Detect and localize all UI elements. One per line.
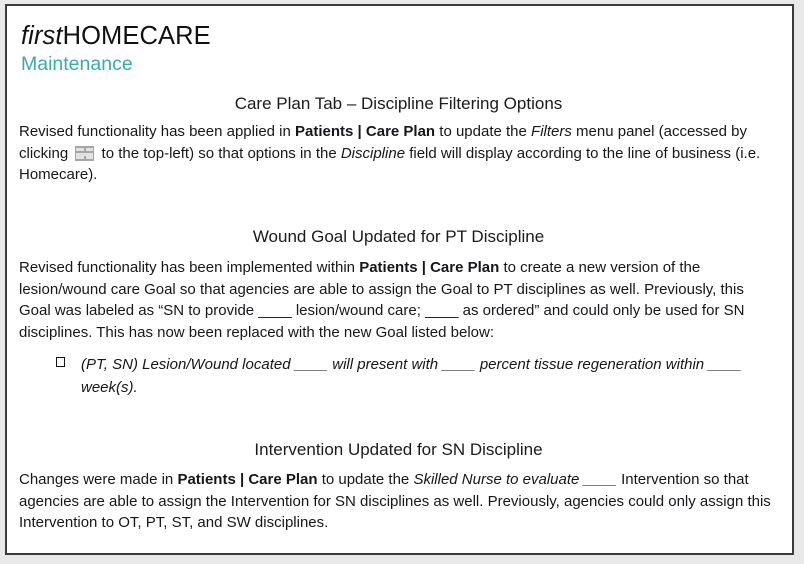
list-item: (PT, SN) Lesion/Wound located ____ will … xyxy=(19,354,778,398)
paragraph-text: Changes were made in xyxy=(19,471,177,488)
section-paragraph: Changes were made in Patients | Care Pla… xyxy=(19,469,778,534)
document-subtitle: Maintenance xyxy=(21,53,778,76)
paragraph-italic-discipline: Discipline xyxy=(341,145,405,162)
paragraph-bold-patients-care-plan: Patients | Care Plan xyxy=(295,123,435,140)
section-wound-goal: Wound Goal Updated for PT Discipline Rev… xyxy=(19,226,778,399)
paragraph-text: to the top-left) so that options in the xyxy=(97,145,340,162)
section-intervention: Intervention Updated for SN Discipline C… xyxy=(19,439,778,534)
brand-title-rest: HOMECARE xyxy=(63,22,211,50)
paragraph-text: to update the xyxy=(435,123,531,140)
paragraph-bold-patients-care-plan: Patients | Care Plan xyxy=(177,471,317,488)
list-item-text: (PT, SN) Lesion/Wound located ____ will … xyxy=(81,356,742,395)
section-heading: Intervention Updated for SN Discipline xyxy=(19,439,778,460)
section-care-plan-tab: Care Plan Tab – Discipline Filtering Opt… xyxy=(19,93,778,186)
document-content: firstHOMECARE Maintenance Care Plan Tab … xyxy=(7,6,792,553)
empty-checkbox-icon xyxy=(56,357,65,367)
paragraph-italic-filters: Filters xyxy=(531,123,572,140)
paragraph-text: Revised functionality has been implement… xyxy=(19,259,359,276)
section-heading: Wound Goal Updated for PT Discipline xyxy=(19,226,778,247)
goal-list: (PT, SN) Lesion/Wound located ____ will … xyxy=(19,354,778,398)
paragraph-text: Revised functionality has been applied i… xyxy=(19,123,295,140)
brand-title: firstHOMECARE xyxy=(21,22,778,51)
section-heading: Care Plan Tab – Discipline Filtering Opt… xyxy=(19,93,778,114)
brand-title-first: first xyxy=(21,22,63,50)
paragraph-bold-patients-care-plan: Patients | Care Plan xyxy=(359,259,499,276)
paragraph-text: to update the xyxy=(318,471,414,488)
document-page: firstHOMECARE Maintenance Care Plan Tab … xyxy=(5,4,794,555)
filters-grid-icon xyxy=(75,146,94,161)
section-paragraph: Revised functionality has been applied i… xyxy=(19,121,778,186)
section-paragraph: Revised functionality has been implement… xyxy=(19,257,778,343)
paragraph-italic-skilled-nurse: Skilled Nurse to evaluate ____ xyxy=(413,471,616,488)
